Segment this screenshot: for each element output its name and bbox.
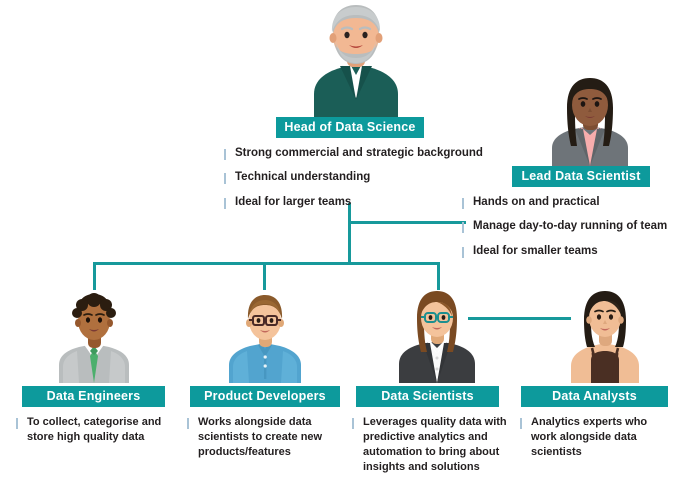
connector-drop-developers <box>263 262 266 290</box>
bullet-marker-icon <box>187 418 189 429</box>
bullet-marker-icon <box>224 173 226 184</box>
bullet-marker-icon <box>352 418 354 429</box>
org-chart-diagram: Head of Data Science Strong commercial a… <box>0 0 700 500</box>
list-item: Ideal for larger teams <box>224 195 494 210</box>
bullet-marker-icon <box>224 198 226 209</box>
list-item: Analytics experts who work alongside dat… <box>520 415 670 460</box>
product-developers-avatar <box>226 293 304 383</box>
list-item: Manage day-to-day running of team <box>462 219 700 234</box>
list-item: Technical understanding <box>224 170 494 185</box>
data-engineers-badge[interactable]: Data Engineers <box>22 386 165 407</box>
product-developers-label: Product Developers <box>204 390 326 403</box>
list-item: Works alongside data scientists to creat… <box>187 415 339 460</box>
head-of-data-science-avatar <box>300 2 412 120</box>
product-developers-bullets: Works alongside data scientists to creat… <box>187 415 339 467</box>
bullet-marker-icon <box>224 149 226 160</box>
data-scientists-bullets: Leverages quality data with predictive a… <box>352 415 507 481</box>
connector-head-to-lead <box>348 221 466 224</box>
list-item: Leverages quality data with predictive a… <box>352 415 507 474</box>
connector-drop-engineers <box>93 262 96 290</box>
bullet-marker-icon <box>462 198 464 209</box>
lead-data-scientist-bullets: Hands on and practical Manage day-to-day… <box>462 195 700 268</box>
data-engineers-bullets: To collect, categorise and store high qu… <box>16 415 174 452</box>
data-engineers-label: Data Engineers <box>47 390 141 403</box>
lead-data-scientist-label: Lead Data Scientist <box>521 170 640 183</box>
head-of-data-science-label: Head of Data Science <box>284 121 415 134</box>
list-item: Strong commercial and strategic backgrou… <box>224 146 494 161</box>
bullet-marker-icon <box>462 247 464 258</box>
list-item: To collect, categorise and store high qu… <box>16 415 174 445</box>
list-item: Hands on and practical <box>462 195 700 210</box>
connector-drop-scientists <box>437 262 440 290</box>
list-item: Ideal for smaller teams <box>462 244 700 259</box>
lead-data-scientist-badge[interactable]: Lead Data Scientist <box>512 166 650 187</box>
data-scientists-label: Data Scientists <box>381 390 474 403</box>
product-developers-badge[interactable]: Product Developers <box>190 386 340 407</box>
data-scientists-avatar <box>395 290 479 383</box>
data-analysts-badge[interactable]: Data Analysts <box>521 386 668 407</box>
head-of-data-science-bullets: Strong commercial and strategic backgrou… <box>224 146 494 219</box>
data-analysts-bullets: Analytics experts who work alongside dat… <box>520 415 670 467</box>
head-of-data-science-badge[interactable]: Head of Data Science <box>276 117 424 138</box>
data-engineers-avatar <box>55 293 133 383</box>
bullet-marker-icon <box>520 418 522 429</box>
data-scientists-badge[interactable]: Data Scientists <box>356 386 499 407</box>
connector-sibling-bar <box>93 262 440 265</box>
data-analysts-avatar <box>565 290 645 383</box>
data-analysts-label: Data Analysts <box>552 390 637 403</box>
bullet-marker-icon <box>16 418 18 429</box>
connector-scientists-to-analysts <box>468 317 571 320</box>
lead-data-scientist-avatar <box>543 78 637 166</box>
bullet-marker-icon <box>462 222 464 233</box>
